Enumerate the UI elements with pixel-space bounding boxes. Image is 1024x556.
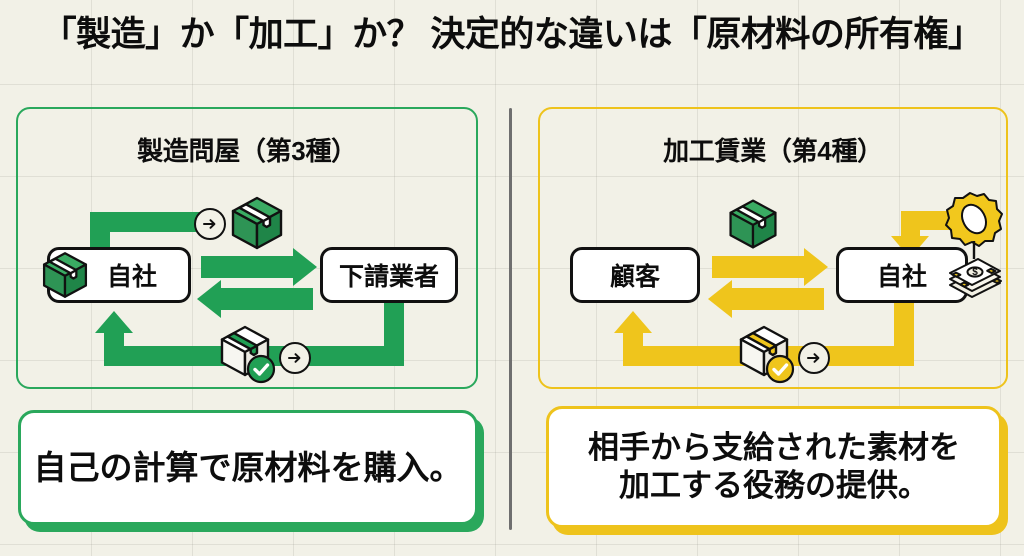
money-stack-icon: $ (942, 253, 1008, 306)
green-package-icon (38, 248, 92, 307)
entity-box-customer[interactable]: 顧客 (570, 247, 700, 303)
entity-box-label: 顧客 (610, 257, 660, 293)
right-forward-arrow-head (804, 248, 828, 286)
circle-arrow-right-icon (194, 208, 226, 240)
left-bottom-left-riser-bar (104, 330, 124, 352)
green-package-icon (226, 192, 288, 259)
caption-card-left: 自己の計算で原材料を購入。 (18, 410, 478, 525)
caption-card-right: 相手から支給された素材を 加工する役務の提供。 (546, 406, 1002, 528)
entity-box-subcontractor[interactable]: 下請業者 (320, 247, 458, 303)
panel-left-heading: 製造問屋（第3種） (18, 131, 476, 168)
infographic-page: 「製造」か「加工」か？ 決定的な違いは「原材料の所有権」 製造問屋（第3種） (0, 0, 1024, 556)
circle-arrow-right-icon (279, 342, 311, 374)
left-forward-arrow-bar (201, 256, 293, 278)
green-package-icon (724, 195, 782, 258)
right-forward-arrow-bar (712, 256, 804, 278)
panel-right-heading: 加工賃業（第4種） (540, 131, 1006, 168)
right-return-arrow-bar (732, 288, 824, 310)
caption-right-line-1: 相手から支給された素材を (588, 429, 960, 467)
left-bottom-arrow-head (95, 311, 133, 333)
left-return-arrow-bar (221, 288, 313, 310)
page-title: 「製造」か「加工」か？ 決定的な違いは「原材料の所有権」 (0, 14, 1024, 56)
entity-box-label: 下請業者 (339, 257, 439, 293)
right-bottom-left-riser-bar (623, 330, 643, 352)
left-forward-arrow-head (293, 248, 317, 286)
left-top-horizontal-bar (90, 212, 200, 232)
white-package-check-yellow-icon (733, 322, 797, 391)
caption-right-line-2: 加工する役務の提供。 (588, 467, 960, 505)
caption-left-line-1: 自己の計算で原材料を購入。 (34, 448, 463, 488)
entity-box-label: 自社 (107, 257, 157, 293)
circle-arrow-right-icon (798, 342, 830, 374)
entity-box-label: 自社 (877, 257, 927, 293)
svg-text:$: $ (972, 267, 978, 278)
right-bottom-arrow-head (614, 311, 652, 333)
white-package-check-icon (214, 322, 278, 391)
right-return-arrow-head (708, 280, 732, 318)
panel-divider (509, 108, 512, 530)
left-return-arrow-head (197, 280, 221, 318)
